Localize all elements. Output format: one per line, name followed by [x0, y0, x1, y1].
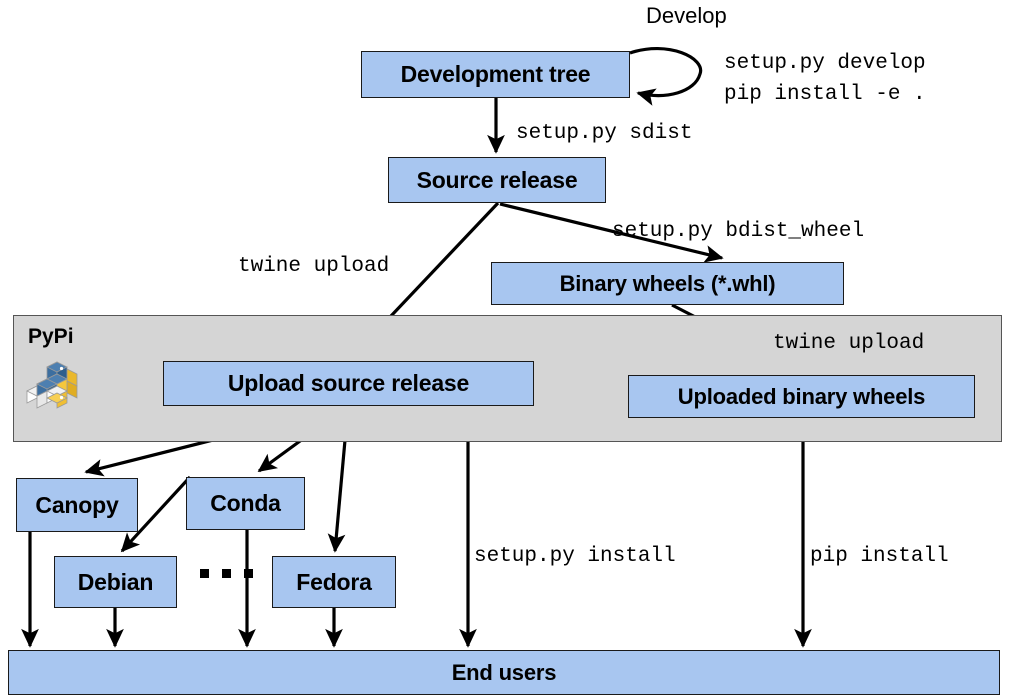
node-label: Uploaded binary wheels [678, 384, 925, 410]
ellipsis-dot [222, 569, 231, 578]
node-label: Fedora [296, 569, 371, 596]
label-setup-py-bdist-wheel: setup.py bdist_wheel [612, 220, 864, 243]
edge-develop-self-loop [630, 49, 701, 96]
node-uploaded-binary-wheels[interactable]: Uploaded binary wheels [628, 375, 975, 418]
pypi-group-label: PyPi [28, 325, 74, 349]
label-twine-upload-wheels: twine upload [773, 332, 924, 355]
node-source-release[interactable]: Source release [388, 157, 606, 203]
node-conda[interactable]: Conda [186, 477, 305, 530]
label-setup-py-install: setup.py install [474, 545, 676, 568]
more-distros-ellipsis [200, 569, 253, 578]
node-development-tree[interactable]: Development tree [361, 51, 630, 98]
node-label: End users [452, 660, 557, 686]
ellipsis-dot [244, 569, 253, 578]
node-label: Binary wheels (*.whl) [560, 271, 776, 297]
label-pip-install: pip install [810, 545, 949, 568]
pypi-python-cubes-icon [25, 353, 87, 416]
label-develop: Develop [646, 3, 727, 29]
ellipsis-dot [200, 569, 209, 578]
node-upload-source-release[interactable]: Upload source release [163, 361, 534, 406]
node-label: Development tree [401, 61, 591, 88]
node-end-users[interactable]: End users [8, 650, 1000, 695]
label-twine-upload-source: twine upload [238, 255, 389, 278]
node-debian[interactable]: Debian [54, 556, 177, 608]
diagram-canvas: PyPi [0, 0, 1009, 698]
node-fedora[interactable]: Fedora [272, 556, 396, 608]
label-pip-install-editable: pip install -e . [724, 83, 926, 106]
node-binary-wheels[interactable]: Binary wheels (*.whl) [491, 262, 844, 305]
label-setup-py-sdist: setup.py sdist [516, 122, 692, 145]
node-label: Debian [78, 569, 153, 596]
node-label: Canopy [35, 492, 118, 519]
label-setup-py-develop: setup.py develop [724, 52, 926, 75]
node-label: Source release [417, 167, 578, 194]
node-label: Upload source release [228, 370, 469, 397]
node-label: Conda [210, 490, 281, 517]
node-canopy[interactable]: Canopy [16, 478, 138, 532]
